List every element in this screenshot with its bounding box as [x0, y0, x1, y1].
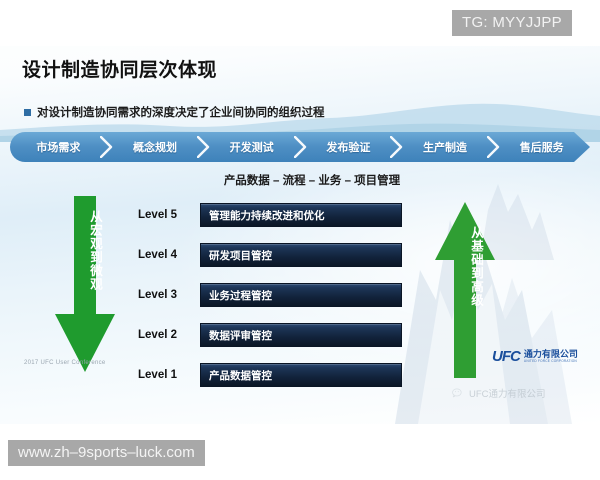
bullet-text: 对设计制造协同需求的深度决定了企业间协同的组织过程: [37, 104, 325, 120]
list-item[interactable]: Level 5 管理能力持续改进和优化: [0, 198, 600, 232]
list-item[interactable]: Level 3 业务过程管控: [0, 278, 600, 312]
process-step-label: 售后服务: [520, 139, 564, 155]
level-bar[interactable]: 研发项目管控: [200, 243, 402, 267]
process-step-5[interactable]: 售后服务: [493, 132, 590, 162]
wechat-account-name: UFC通力有限公司: [469, 386, 546, 400]
slide-canvas: 设计制造协同层次体现 对设计制造协同需求的深度决定了企业间协同的组织过程 市场需…: [0, 0, 600, 424]
list-item[interactable]: Level 4 研发项目管控: [0, 238, 600, 272]
ufc-logo: UFC 通力有限公司 UNITED FORCE CORPORATION: [492, 348, 578, 365]
level-label: Level 4: [138, 249, 198, 261]
url-watermark: www.zh–9sports–luck.com: [8, 440, 205, 466]
subtitle-text: 产品数据 – 流程 – 业务 – 项目管理: [224, 175, 400, 187]
process-step-label: 概念规划: [133, 139, 177, 155]
level-bar-text: 研发项目管控: [201, 248, 272, 263]
process-step-2[interactable]: 开发测试: [203, 132, 300, 162]
ufc-wordmark: UFC: [492, 348, 520, 365]
process-step-label: 市场需求: [36, 139, 80, 155]
level-bar-text: 业务过程管控: [201, 288, 272, 303]
process-step-4[interactable]: 生产制造: [397, 132, 494, 162]
process-step-3[interactable]: 发布验证: [300, 132, 397, 162]
process-step-label: 生产制造: [423, 139, 467, 155]
level-label: Level 3: [138, 289, 198, 301]
process-step-0[interactable]: 市场需求: [10, 132, 107, 162]
conference-note: 2017 UFC User Conference: [24, 360, 106, 366]
wechat-account-row: UFC通力有限公司: [452, 386, 546, 400]
level-bar[interactable]: 业务过程管控: [200, 283, 402, 307]
subtitle: 产品数据 – 流程 – 业务 – 项目管理: [0, 172, 600, 188]
process-step-label: 发布验证: [326, 139, 370, 155]
level-bar[interactable]: 产品数据管控: [200, 363, 402, 387]
process-step-1[interactable]: 概念规划: [107, 132, 204, 162]
ufc-company-name-en: UNITED FORCE CORPORATION: [524, 360, 578, 363]
process-step-label: 开发测试: [230, 139, 274, 155]
bullet-square-icon: [24, 109, 31, 116]
level-label: Level 1: [138, 369, 198, 381]
process-flow-bar: 市场需求 概念规划 开发测试 发布验证: [10, 132, 590, 162]
ufc-company-name-cn: 通力有限公司: [524, 350, 578, 359]
list-item[interactable]: Level 2 数据评审管控: [0, 318, 600, 352]
level-bar-text: 数据评审管控: [201, 328, 272, 343]
maturity-level-list: Level 5 管理能力持续改进和优化 Level 4 研发项目管控 Level…: [0, 198, 600, 398]
level-bar[interactable]: 数据评审管控: [200, 323, 402, 347]
page-title: 设计制造协同层次体现: [22, 55, 217, 82]
level-bar[interactable]: 管理能力持续改进和优化: [200, 203, 402, 227]
level-label: Level 2: [138, 329, 198, 341]
bullet-line: 对设计制造协同需求的深度决定了企业间协同的组织过程: [24, 104, 325, 120]
tg-watermark: TG: MYYJJPP: [452, 10, 572, 36]
wechat-icon: [452, 388, 465, 399]
ufc-company-name: 通力有限公司 UNITED FORCE CORPORATION: [524, 350, 578, 363]
level-label: Level 5: [138, 209, 198, 221]
level-bar-text: 产品数据管控: [201, 368, 272, 383]
level-bar-text: 管理能力持续改进和优化: [201, 208, 325, 223]
